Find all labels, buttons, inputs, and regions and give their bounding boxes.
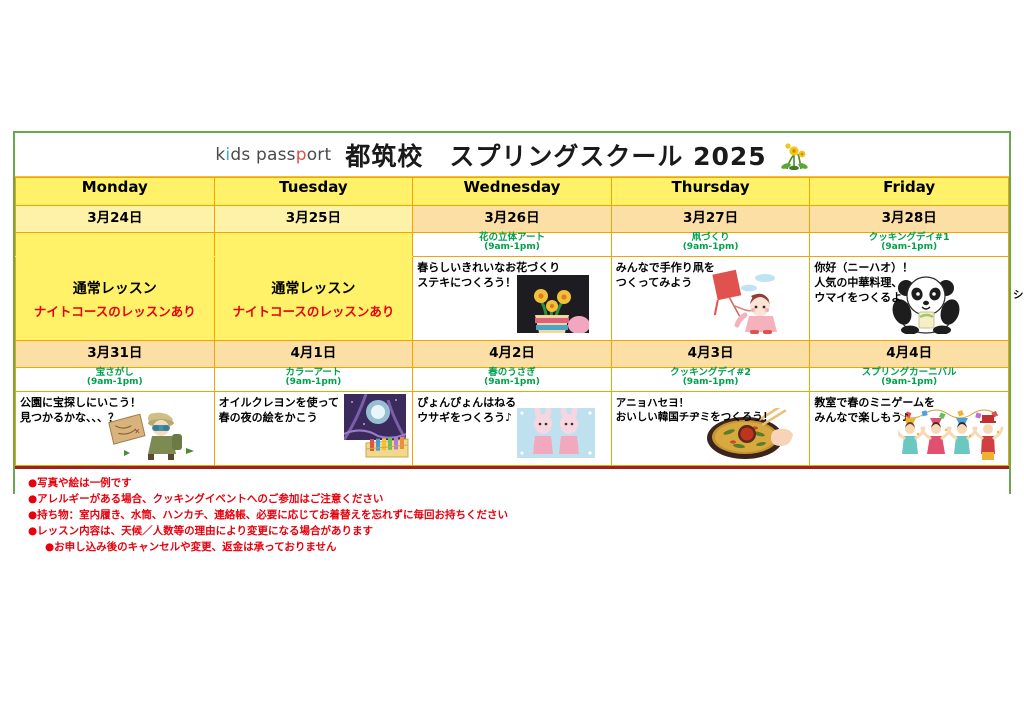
event-title-cell-w2-mon: 宝さがし (9am-1pm) [16, 368, 215, 392]
content-cell-w2-thu: アニョハセヨ！ おいしい韓国チヂミをつくろう！ [611, 392, 810, 466]
flyer-page: kids passport 都筑校 スプリングスクール 2025 [0, 0, 1024, 721]
event-title-cell-w1-wed: 花の立体アート (9am-1pm) [413, 233, 612, 257]
note-item: ●写真や絵は一例です [28, 476, 1009, 492]
steamed-dumpling-overflow-text: シュ [1013, 287, 1024, 302]
activity-description: オイルクレヨンを使って 春の夜の絵をかこう [219, 396, 339, 426]
date-cell-w1-fri: 3月28日 [810, 206, 1009, 233]
date-cell-w2-mon: 3月31日 [16, 341, 215, 368]
week2-content-row: 公園に宝探しにいこう！ 見つかるかな、、、？ ✕ [16, 392, 1009, 466]
paper-rabbits-photo [517, 408, 595, 463]
event-time: (9am-1pm) [612, 378, 810, 387]
flower-icon [781, 140, 809, 170]
svg-text:✕: ✕ [134, 428, 141, 436]
note-item: ●レッスン内容は、天候／人数等の理由により変更になる場合があります [28, 524, 1009, 540]
note-item: ●お申し込み後のキャンセルや変更、返金は承っておりません [28, 540, 1009, 556]
regular-lesson-label: 通常レッスン [16, 278, 214, 298]
note-item: ●アレルギーがある場合、クッキングイベントへのご参加はご注意ください [28, 492, 1009, 508]
note-item: ●持ち物：室内履き、水筒、ハンカチ、連絡帳、必要に応じてお着替えを忘れずに毎回お… [28, 508, 1009, 524]
content-cell-w1-mon: 通常レッスン ナイトコースのレッスンあり [16, 257, 215, 341]
content-cell-w2-mon: 公園に宝探しにいこう！ 見つかるかな、、、？ ✕ [16, 392, 215, 466]
week2-date-row: 3月31日 4月1日 4月2日 4月3日 4月4日 [16, 341, 1009, 368]
content-cell-w2-tue: オイルクレヨンを使って 春の夜の絵をかこう [214, 392, 413, 466]
schedule-table: Monday Tuesday Wednesday Thursday Friday… [15, 177, 1009, 466]
week1-date-row: 3月24日 3月25日 3月26日 3月27日 3月28日 [16, 206, 1009, 233]
notes-section: ●写真や絵は一例です ●アレルギーがある場合、クッキングイベントへのご参加はご注… [15, 469, 1009, 556]
event-time: (9am-1pm) [16, 378, 214, 387]
date-cell-w1-tue: 3月25日 [214, 206, 413, 233]
activity-description: 教室で春のミニゲームを みんなで楽しもう♪ [814, 396, 935, 426]
page-title: 都筑校 スプリングスクール 2025 [345, 137, 766, 173]
column-header-friday: Friday [810, 178, 1009, 206]
event-time: (9am-1pm) [215, 378, 413, 387]
kids-passport-logo: kids passport [215, 145, 331, 165]
activity-description: 你好（ニーハオ）！ 人気の中華料理、 ウマイをつくるよ [814, 261, 913, 306]
event-title-cell-w1-thu: 凧づくり (9am-1pm) [611, 233, 810, 257]
event-title-cell-w2-thu: クッキングデイ#2 (9am-1pm) [611, 368, 810, 392]
date-cell-w2-fri: 4月4日 [810, 341, 1009, 368]
activity-description: アニョハセヨ！ おいしい韓国チヂミをつくろう！ [616, 396, 774, 424]
event-title-cell-w2-tue: カラーアート (9am-1pm) [214, 368, 413, 392]
event-title-cell-w2-wed: 春のうさぎ (9am-1pm) [413, 368, 612, 392]
night-course-note: ナイトコースのレッスンあり [215, 301, 413, 320]
activity-description: 春らしいきれいなお花づくり ステキにつくろう！ [417, 261, 560, 291]
week1-content-row: 通常レッスン ナイトコースのレッスンあり 通常レッスン ナイトコースのレッスンあ… [16, 257, 1009, 341]
crayon-box-illustration [364, 435, 410, 464]
date-cell-w2-tue: 4月1日 [214, 341, 413, 368]
column-header-thursday: Thursday [611, 178, 810, 206]
event-title-cell-w1-tue [214, 233, 413, 257]
content-cell-w2-wed: ぴょんぴょんはねる ウサギをつくろう♪ [413, 392, 612, 466]
kite-girl-illustration [705, 266, 783, 339]
event-time: (9am-1pm) [612, 243, 810, 252]
regular-lesson-label: 通常レッスン [215, 278, 413, 298]
date-cell-w1-mon: 3月24日 [16, 206, 215, 233]
flyer-header: kids passport 都筑校 スプリングスクール 2025 [15, 133, 1009, 177]
date-cell-w2-thu: 4月3日 [611, 341, 810, 368]
activity-description: ぴょんぴょんはねる ウサギをつくろう♪ [417, 396, 516, 426]
day-of-week-header-row: Monday Tuesday Wednesday Thursday Friday [16, 178, 1009, 206]
week2-event-title-row: 宝さがし (9am-1pm) カラーアート (9am-1pm) 春のうさぎ (9… [16, 368, 1009, 392]
date-cell-w2-wed: 4月2日 [413, 341, 612, 368]
activity-description: みんなで手作り凧を つくってみよう [616, 261, 715, 291]
event-title-cell-w1-fri: クッキングデイ#1 (9am-1pm) [810, 233, 1009, 257]
date-cell-w1-thu: 3月27日 [611, 206, 810, 233]
event-title-cell-w2-fri: スプリングカーニバル (9am-1pm) [810, 368, 1009, 392]
event-time: (9am-1pm) [810, 243, 1008, 252]
event-title-cell-w1-mon [16, 233, 215, 257]
column-header-monday: Monday [16, 178, 215, 206]
content-cell-w1-fri: 你好（ニーハオ）！ 人気の中華料理、 ウマイをつくるよ [810, 257, 1009, 341]
column-header-tuesday: Tuesday [214, 178, 413, 206]
content-cell-w1-wed: 春らしいきれいなお花づくり ステキにつくろう！ [413, 257, 612, 341]
night-course-note: ナイトコースのレッスンあり [16, 301, 214, 320]
activity-description: 公園に宝探しにいこう！ 見つかるかな、、、？ [20, 396, 141, 426]
spring-school-calendar-flyer: kids passport 都筑校 スプリングスクール 2025 [13, 131, 1011, 494]
event-time: (9am-1pm) [413, 243, 611, 252]
content-cell-w1-thu: みんなで手作り凧を つくってみよう [611, 257, 810, 341]
event-time: (9am-1pm) [413, 378, 611, 387]
content-cell-w1-tue: 通常レッスン ナイトコースのレッスンあり [214, 257, 413, 341]
date-cell-w1-wed: 3月26日 [413, 206, 612, 233]
event-time: (9am-1pm) [810, 378, 1008, 387]
column-header-wednesday: Wednesday [413, 178, 612, 206]
week1-event-title-row: 花の立体アート (9am-1pm) 凧づくり (9am-1pm) クッキングデイ… [16, 233, 1009, 257]
content-cell-w2-fri: 教室で春のミニゲームを みんなで楽しもう♪ [810, 392, 1009, 466]
